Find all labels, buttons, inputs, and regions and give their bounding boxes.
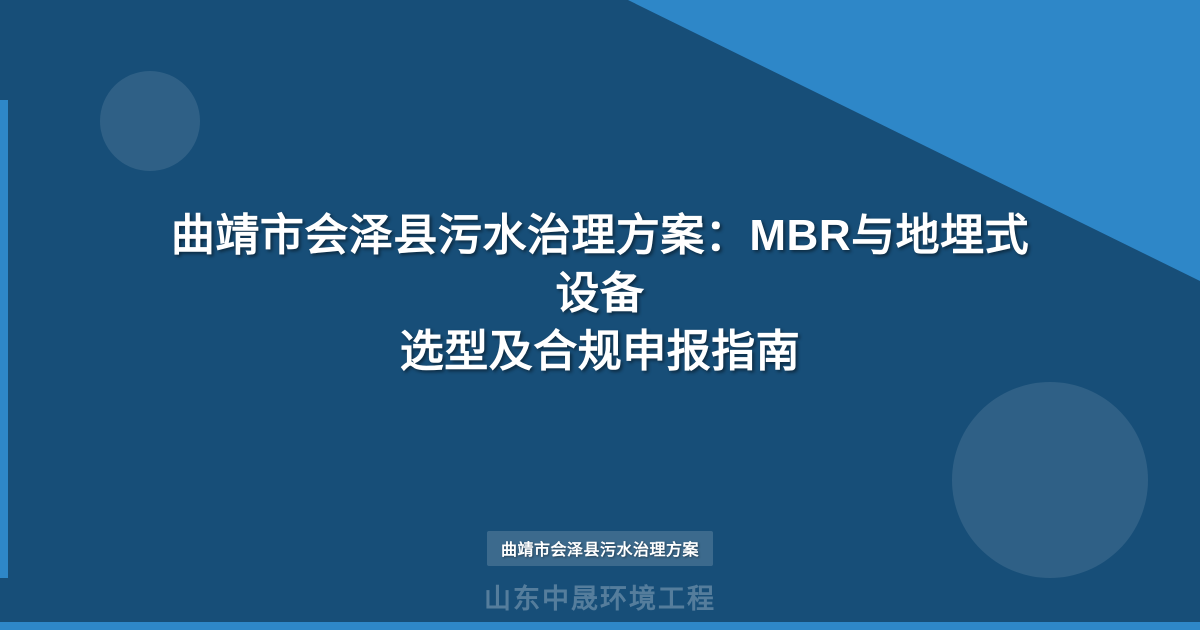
bottom-accent-bar: [0, 622, 1200, 630]
footer-topic-badge: 曲靖市会泽县污水治理方案: [487, 531, 713, 566]
cover-slide: 曲靖市会泽县污水治理方案：MBR与地埋式设备 选型及合规申报指南 曲靖市会泽县污…: [0, 0, 1200, 630]
circle-decoration-top-left: [100, 71, 200, 171]
cover-title: 曲靖市会泽县污水治理方案：MBR与地埋式设备 选型及合规申报指南: [160, 207, 1040, 423]
left-accent-bar: [0, 100, 8, 578]
footer-company-watermark: 山东中晟环境工程: [484, 577, 716, 616]
footer-block: 曲靖市会泽县污水治理方案 山东中晟环境工程: [0, 531, 1200, 622]
